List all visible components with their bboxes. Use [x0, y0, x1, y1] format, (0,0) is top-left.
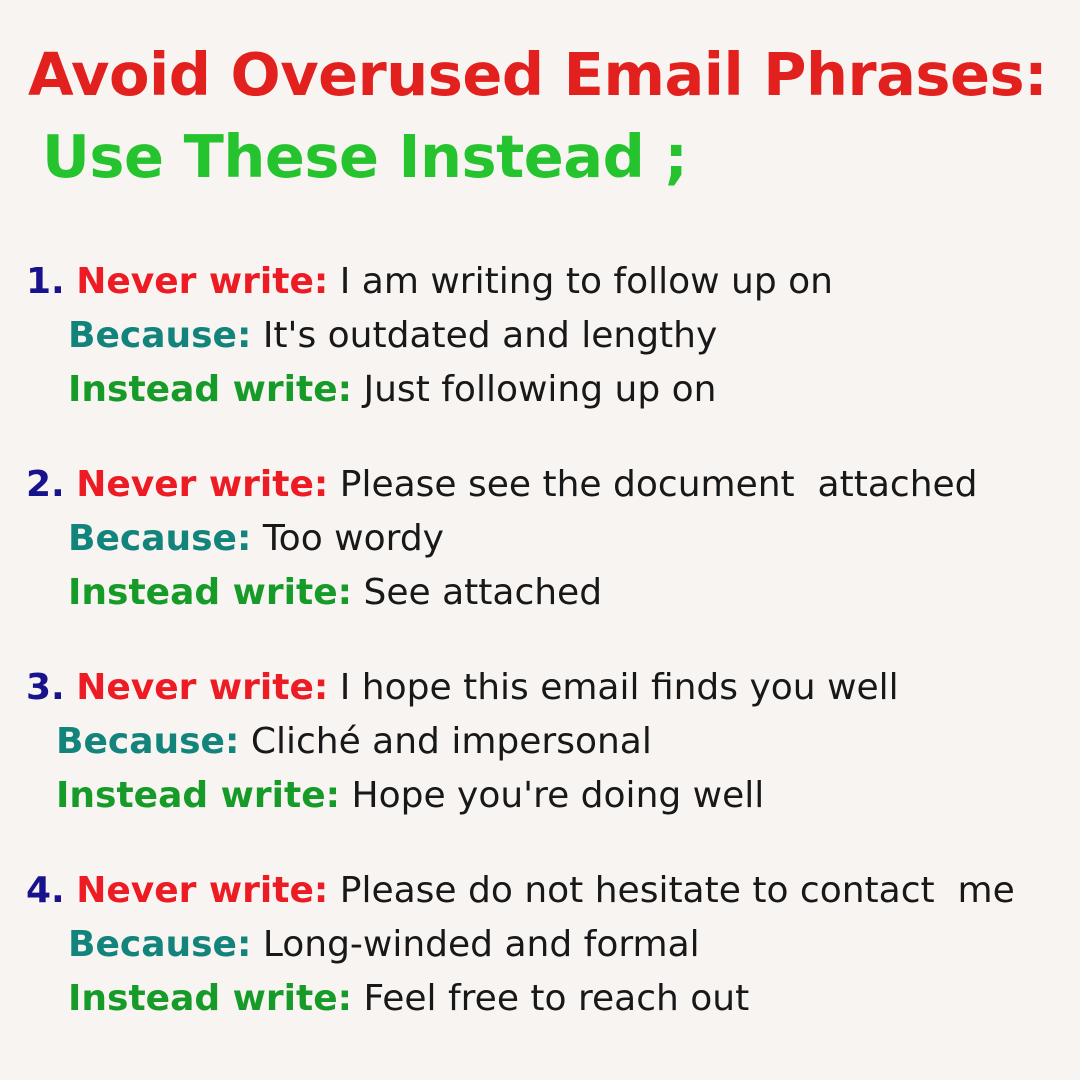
instead-write-row: Instead write: Feel free to reach out: [0, 972, 1080, 1026]
list-item: 2. Never write: Please see the document …: [0, 458, 1080, 620]
instead-write-label: Instead write:: [56, 775, 340, 816]
because-text: It's outdated and lengthy: [263, 315, 717, 356]
instead-write-row: Instead write: Just following up on: [0, 363, 1080, 417]
because-label: Because:: [56, 721, 239, 762]
never-write-label: Never write:: [76, 261, 328, 302]
tips-list: 1. Never write: I am writing to follow u…: [0, 255, 1080, 1067]
never-write-label: Never write:: [76, 667, 328, 708]
because-text: Long-winded and formal: [263, 924, 700, 965]
instead-write-text: Feel free to reach out: [364, 978, 750, 1019]
instead-write-row: Instead write: Hope you're doing well: [0, 769, 1080, 823]
title-line-primary: Avoid Overused Email Phrases:: [0, 34, 1080, 116]
never-write-text: I hope this email finds you well: [340, 667, 899, 708]
list-item: 1. Never write: I am writing to follow u…: [0, 255, 1080, 417]
never-write-text: Please do not hesitate to contact me: [340, 870, 1015, 911]
never-write-label: Never write:: [76, 870, 328, 911]
item-number: 2.: [26, 464, 65, 505]
instead-write-text: See attached: [364, 572, 603, 613]
poster-canvas: Avoid Overused Email Phrases: Use These …: [0, 0, 1080, 1080]
because-row: Because: Long-winded and formal: [0, 918, 1080, 972]
never-write-text: I am writing to follow up on: [340, 261, 833, 302]
never-write-row: 4. Never write: Please do not hesitate t…: [0, 864, 1080, 918]
because-row: Because: It's outdated and lengthy: [0, 309, 1080, 363]
title-line-secondary: Use These Instead ;: [0, 116, 1080, 198]
item-number: 1.: [26, 261, 65, 302]
never-write-row: 3. Never write: I hope this email finds …: [0, 661, 1080, 715]
page-title: Avoid Overused Email Phrases: Use These …: [0, 34, 1080, 198]
never-write-row: 2. Never write: Please see the document …: [0, 458, 1080, 512]
because-row: Because: Cliché and impersonal: [0, 715, 1080, 769]
instead-write-row: Instead write: See attached: [0, 566, 1080, 620]
because-text: Cliché and impersonal: [251, 721, 652, 762]
because-row: Because: Too wordy: [0, 512, 1080, 566]
never-write-text: Please see the document attached: [340, 464, 978, 505]
item-number: 3.: [26, 667, 65, 708]
because-label: Because:: [68, 315, 251, 356]
because-text: Too wordy: [263, 518, 444, 559]
instead-write-label: Instead write:: [68, 978, 352, 1019]
instead-write-text: Hope you're doing well: [352, 775, 765, 816]
never-write-label: Never write:: [76, 464, 328, 505]
because-label: Because:: [68, 518, 251, 559]
never-write-row: 1. Never write: I am writing to follow u…: [0, 255, 1080, 309]
instead-write-text: Just following up on: [364, 369, 717, 410]
list-item: 3. Never write: I hope this email finds …: [0, 661, 1080, 823]
list-item: 4. Never write: Please do not hesitate t…: [0, 864, 1080, 1026]
because-label: Because:: [68, 924, 251, 965]
item-number: 4.: [26, 870, 65, 911]
instead-write-label: Instead write:: [68, 572, 352, 613]
instead-write-label: Instead write:: [68, 369, 352, 410]
